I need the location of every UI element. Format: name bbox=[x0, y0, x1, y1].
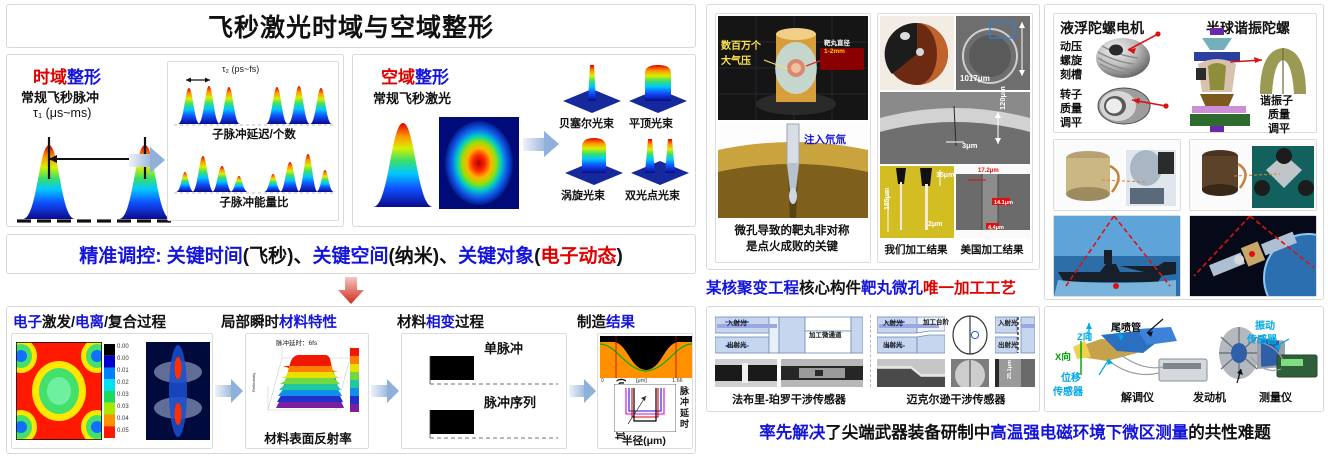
label-target-diameter: 靶丸直径 bbox=[824, 37, 850, 47]
dim-1017um: 1017μm bbox=[960, 74, 990, 83]
chain-arrow-2 bbox=[371, 379, 399, 403]
depth-vs-radius-chart bbox=[614, 384, 676, 432]
dim-120um: 120μm bbox=[998, 86, 1007, 110]
beam-twin-spot-icon bbox=[629, 133, 691, 187]
mi-label-out: 出射光 bbox=[883, 339, 903, 349]
panel-spatial-shaping: 空域整形 常规飞秒激光 bbox=[352, 54, 696, 227]
mi-label-step: 加工台阶 bbox=[923, 316, 949, 326]
step-header-excitation: 电子激发/电离/复合过程 bbox=[13, 311, 166, 332]
label-vibration-2: 传感器 bbox=[1247, 331, 1277, 346]
temporal-input-pulses bbox=[15, 123, 185, 223]
dim-185um: 185μm bbox=[884, 188, 891, 210]
label-demodulator: 解调仪 bbox=[1121, 389, 1154, 405]
engine-sensor-illustration bbox=[1051, 313, 1319, 389]
submarine-photo bbox=[1054, 216, 1180, 296]
left-pane: 飞秒激光时域与空域整形 时域整形 常规飞秒脉冲 τ₁ (μs~ms) bbox=[0, 0, 702, 458]
fp-label-microchannel: 加工微通道 bbox=[809, 329, 842, 339]
field-distribution-map bbox=[146, 342, 210, 440]
step-box-result: 0 [μm] 1.66 加工深度(nm) 半径(μm) 脉冲延 bbox=[597, 333, 693, 449]
depth-xlabel: 半径(μm) bbox=[612, 433, 676, 448]
beam-bessel-icon bbox=[561, 61, 623, 115]
panel-fusion-target: 数百万个 大气压 靶丸直径 1-2mm 注入氘氚 微孔导致的靶丸非对称 是点火成… bbox=[706, 4, 1040, 270]
step-box-phase-change: 单脉冲 脉冲序列 bbox=[401, 333, 567, 449]
fp-micrographs bbox=[715, 359, 863, 387]
spatial-title-blue: 整形 bbox=[415, 68, 449, 87]
beam-label-vortex: 涡旋光束 bbox=[561, 187, 605, 203]
dim-usa-mid: 14.1μm bbox=[994, 200, 1013, 206]
label-vibration-1: 振动 bbox=[1255, 317, 1275, 332]
photo-sensor-pair-a bbox=[1053, 139, 1181, 211]
pulse-delay-side-label: 脉冲延时 bbox=[678, 386, 691, 430]
mi-label-in: 入射光 bbox=[883, 317, 903, 327]
label-x-axis: X向 bbox=[1055, 349, 1071, 363]
sensor-divider bbox=[870, 315, 872, 387]
label-target-diameter-value: 1-2mm bbox=[824, 48, 845, 55]
down-arrow-icon bbox=[336, 277, 366, 305]
label-meter: 测量仪 bbox=[1259, 389, 1292, 405]
pulse-train-plot bbox=[408, 408, 562, 442]
label-z-axis: Z向 bbox=[1077, 329, 1092, 343]
gyro-figure: 液浮陀螺电机 半球谐振陀螺 动压 螺旋 刻槽 bbox=[1053, 13, 1317, 133]
step-header-result: 制造结果 bbox=[577, 311, 635, 332]
excitation-colorbar bbox=[104, 344, 115, 438]
step-box-material-props: 脉冲延时：6fs Reflectivity bbox=[245, 333, 369, 449]
satellite-photo bbox=[1190, 216, 1316, 296]
slide-canvas: 飞秒激光时域与空域整形 时域整形 常规飞秒脉冲 τ₁ (μs~ms) bbox=[0, 0, 1328, 458]
burst-train-delay bbox=[172, 74, 336, 126]
dim-2um: 2μm bbox=[928, 221, 942, 228]
fiber-end-schematic bbox=[951, 315, 989, 357]
sem-shell-cross-section bbox=[880, 92, 1030, 164]
electron-density-contour bbox=[16, 342, 102, 440]
beam-gallery: 贝塞尔光束 平顶光束 涡旋光束 双光点光束 bbox=[559, 59, 693, 223]
gyro-callout-arrows bbox=[1054, 14, 1318, 134]
photo-sensor-pair-b bbox=[1189, 139, 1317, 211]
target-capsule-photo bbox=[880, 16, 954, 90]
caption-mi-sensor: 迈克尔逊干涉传感器 bbox=[877, 391, 1035, 407]
step-header-phase-change: 材料相变过程 bbox=[397, 311, 484, 332]
caption-fusion-process: 某核聚变工程核心构件靶丸微孔唯一加工工艺 bbox=[706, 272, 1040, 302]
label-nozzle: 尾喷管 bbox=[1111, 319, 1141, 334]
caption-subpulse-energy: 子脉冲能量比 bbox=[168, 194, 340, 210]
photo-satellite bbox=[1189, 215, 1317, 297]
beam-flattop-icon bbox=[627, 61, 689, 115]
caption-usa-result: 美国加工结果 bbox=[954, 242, 1030, 257]
slide-title-bar: 飞秒激光时域与空域整形 bbox=[6, 4, 696, 48]
right-pane: 数百万个 大气压 靶丸直径 1-2mm 注入氘氚 微孔导致的靶丸非对称 是点火成… bbox=[702, 0, 1328, 458]
page-title: 飞秒激光时域与空域整形 bbox=[208, 8, 494, 44]
beam-label-flattop: 平顶光束 bbox=[629, 115, 673, 131]
temporal-title-blue: 整形 bbox=[67, 68, 101, 87]
beam-label-bessel: 贝塞尔光束 bbox=[559, 115, 614, 131]
caption-bottom-achievement: 率先解决了尖端武器装备研制中高温强电磁环境下微区测量的共性难题 bbox=[706, 414, 1324, 448]
label-gas-injection: 注入氘氚 bbox=[804, 132, 846, 147]
svg-text:Reflectivity: Reflectivity bbox=[252, 373, 256, 392]
beam-label-twinspot: 双光点光束 bbox=[625, 187, 680, 203]
chain-arrow-1 bbox=[215, 379, 243, 403]
mi2-label-out: 出射光 bbox=[998, 339, 1018, 349]
crater-cross-section bbox=[600, 336, 692, 378]
label-engine: 发动机 bbox=[1193, 389, 1226, 405]
fiber-end-micrograph bbox=[951, 359, 989, 387]
step-header-material-props: 局部瞬时材料特性 bbox=[221, 311, 337, 332]
panel-fiber-sensors: 入射光 出射光 加工微通道 法布里-珀罗干涉传感器 bbox=[706, 306, 1040, 412]
dim-25um: 25.1μm bbox=[1007, 360, 1013, 379]
step-box-excitation: 0.00 0.00 0.01 0.02 0.03 0.03 0.04 0.05 bbox=[11, 333, 213, 449]
temporal-subtitle: 常规飞秒脉冲 bbox=[21, 87, 99, 106]
hohlraum-illustration bbox=[718, 16, 868, 120]
panel-process-chain: 电子激发/电离/复合过程 局部瞬时材料特性 材料相变过程 制造结果 bbox=[6, 306, 696, 454]
temporal-output-box: τ₂ (ps~fs) 子脉冲延迟/个数 bbox=[167, 61, 339, 221]
mi-micrograph-2 bbox=[995, 359, 1035, 387]
fusion-caption-line2: 是点火成败的关键 bbox=[716, 238, 868, 254]
dim-usa-bot: 4.4μm bbox=[988, 225, 1004, 231]
tau2-label: τ₂ (ps~fs) bbox=[222, 64, 259, 74]
photo-submarine bbox=[1053, 215, 1181, 297]
label-pressure-line1: 数百万个 bbox=[721, 37, 761, 52]
fusion-left-figures: 数百万个 大气压 靶丸直径 1-2mm 注入氘氚 微孔导致的靶丸非对称 是点火成… bbox=[715, 13, 871, 263]
temporal-flow-arrow bbox=[129, 147, 165, 173]
fusion-right-figures: 1017μm 120μm 3μm bbox=[877, 13, 1033, 263]
banner-precise-control: 精准调控: 关键时间(飞秒)、关键空间(纳米)、关键对象(电子动态) bbox=[6, 234, 696, 274]
float-gyro-photo-a bbox=[1054, 140, 1180, 210]
chain-arrow-3 bbox=[569, 379, 595, 403]
mi-micrograph-1 bbox=[877, 359, 945, 387]
fp-label-out: 出射光 bbox=[727, 339, 747, 349]
dim-usa-top: 17.2μm bbox=[978, 168, 999, 174]
label-displacement-2: 传感器 bbox=[1053, 383, 1083, 398]
label-displacement-1: 位移 bbox=[1061, 369, 1081, 384]
beam-vortex-icon bbox=[563, 133, 625, 187]
float-gyro-photo-b bbox=[1190, 140, 1316, 210]
banner-text: 精准调控: 关键时间(飞秒)、关键空间(纳米)、关键对象(电子动态) bbox=[79, 241, 623, 268]
gaussian-intensity-map bbox=[439, 117, 519, 209]
panel-gyroscope: 液浮陀螺电机 半球谐振陀螺 动压 螺旋 刻槽 bbox=[1044, 4, 1324, 300]
spatial-flow-arrow bbox=[523, 131, 559, 157]
mi2-label-in: 入射光 bbox=[998, 317, 1018, 327]
pulse-delay-side-label-wrap: 脉冲延时 bbox=[678, 386, 692, 442]
spatial-subtitle: 常规飞秒激光 bbox=[373, 88, 451, 107]
caption-our-result: 我们加工结果 bbox=[878, 242, 954, 257]
panel-engine-measurement: Z向 X向 尾喷管 振动 传感器 位移 传感器 解调仪 发动机 测量仪 bbox=[1044, 306, 1324, 412]
fusion-caption-line1: 微孔导致的靶丸非对称 bbox=[716, 222, 868, 238]
caption-subpulse-delay: 子脉冲延迟/个数 bbox=[168, 126, 340, 142]
panel-temporal-shaping: 时域整形 常规飞秒脉冲 τ₁ (μs~ms) bbox=[6, 54, 344, 227]
tau1-label: τ₁ (μs~ms) bbox=[33, 106, 91, 120]
fp-label-in: 入射光 bbox=[727, 317, 747, 327]
gaussian-profile bbox=[371, 117, 437, 209]
spatial-title-red: 空域 bbox=[381, 68, 415, 87]
burst-train-energy bbox=[172, 142, 336, 194]
caption-fp-sensor: 法布里-珀罗干涉传感器 bbox=[713, 391, 865, 407]
label-pressure-line2: 大气压 bbox=[721, 52, 751, 67]
reflectivity-colorbar bbox=[350, 348, 359, 412]
temporal-title-red: 时域 bbox=[33, 68, 67, 87]
single-pulse-plot bbox=[408, 354, 562, 388]
caption-surface-reflectivity: 材料表面反射率 bbox=[246, 428, 370, 447]
dim-3um: 3μm bbox=[962, 141, 977, 150]
dim-35um: 35μm bbox=[936, 172, 954, 179]
reflectivity-surface-plot: Reflectivity bbox=[252, 346, 364, 422]
